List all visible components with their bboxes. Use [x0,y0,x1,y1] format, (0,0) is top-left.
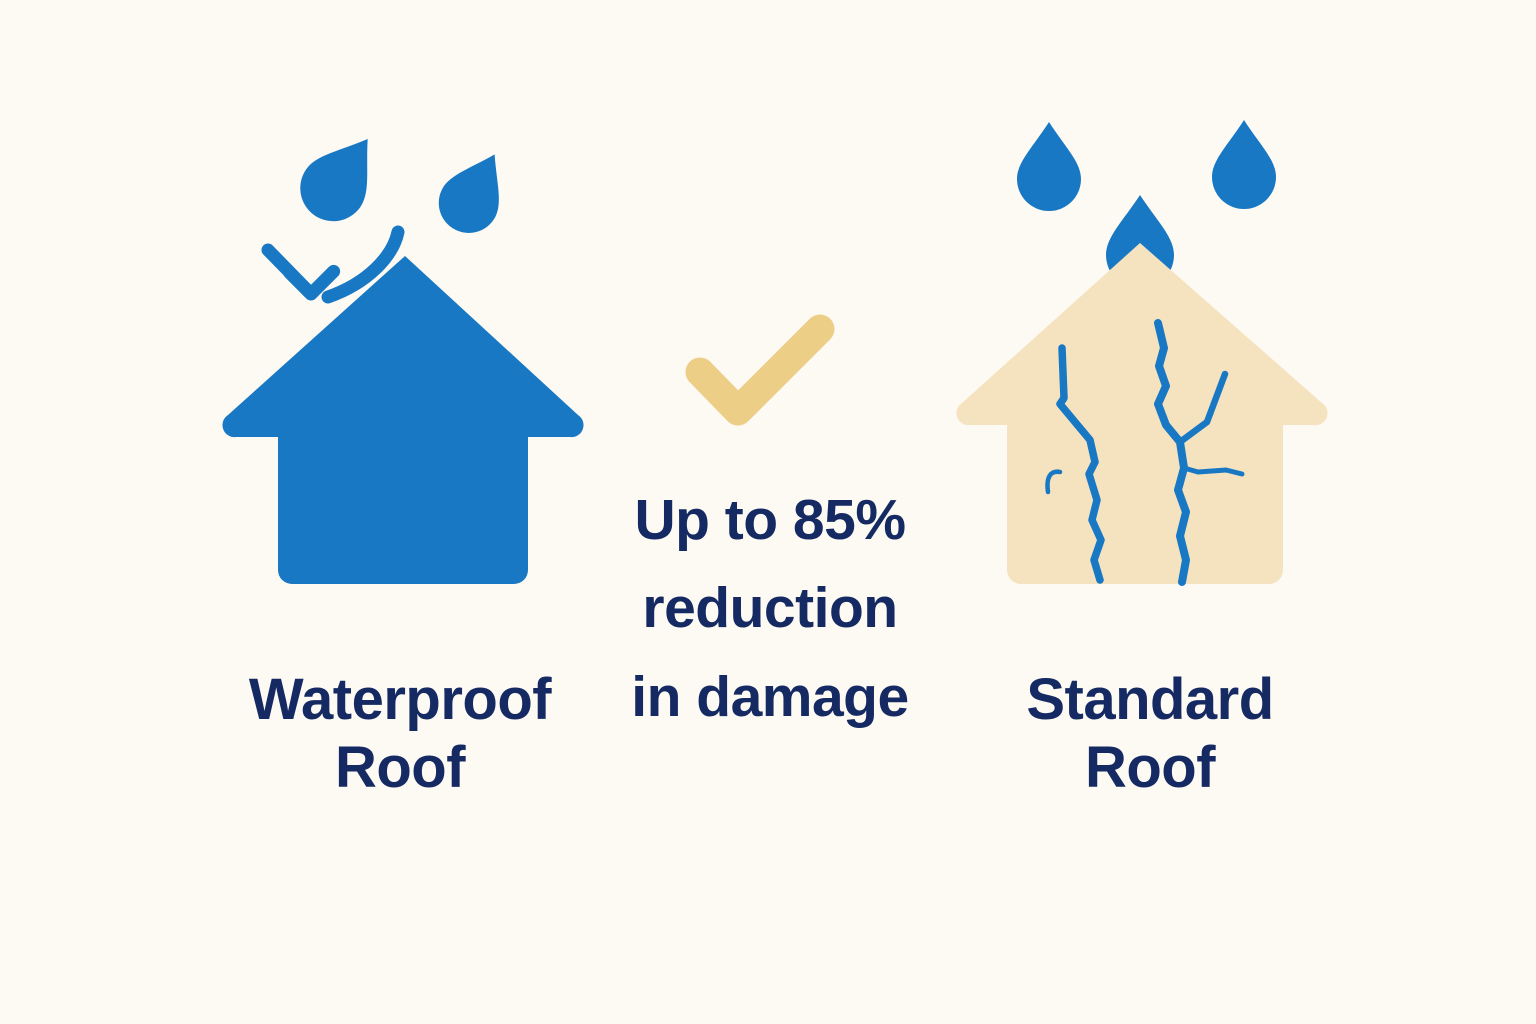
standard-roof-panel: Standard Roof [900,100,1400,820]
standard-roof-label: Standard Roof [900,666,1400,803]
infographic-canvas: Waterproof Roof Up to 85% reduction in d… [0,0,1536,1024]
waterproof-roof-panel: Waterproof Roof [150,100,650,820]
waterproof-roof-label: Waterproof Roof [150,666,650,803]
